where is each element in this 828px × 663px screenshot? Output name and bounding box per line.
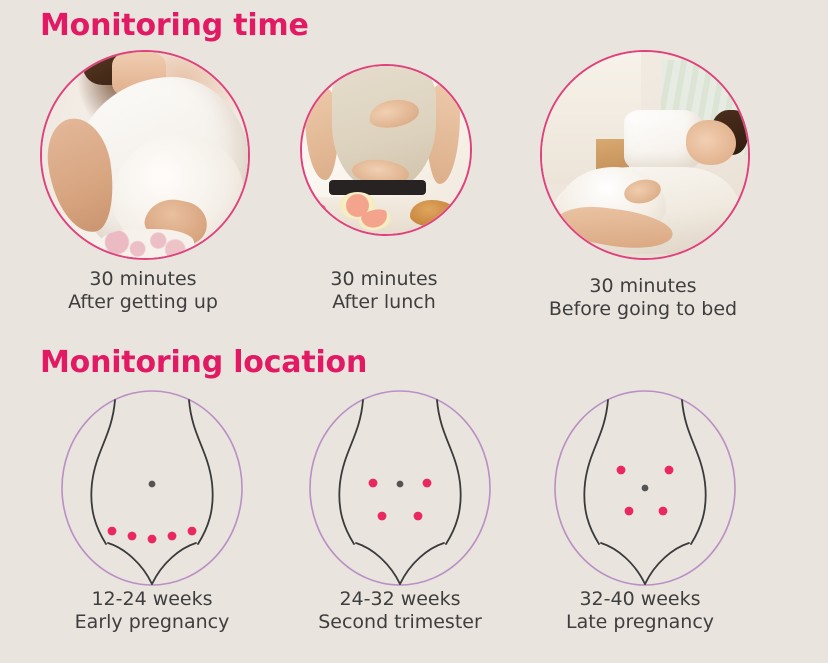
measurement-dot <box>108 527 117 536</box>
caption-line-2: Before going to bed <box>543 298 743 321</box>
monitoring-time-item-before-bed <box>540 50 750 260</box>
section-title-monitoring-location: Monitoring location <box>40 345 367 380</box>
torso-contour-right <box>437 400 461 544</box>
monitoring-time-item-after-lunch <box>300 64 472 236</box>
groin-line-left <box>108 543 152 584</box>
measurement-dot <box>128 532 137 541</box>
measurement-dot <box>188 527 197 536</box>
measurement-dot <box>414 512 423 521</box>
torso-contour-left <box>584 400 608 544</box>
caption-after-lunch: 30 minutes After lunch <box>284 268 484 314</box>
measurement-dot <box>168 532 177 541</box>
photo-after-lunch <box>300 64 472 236</box>
navel-dot <box>642 485 649 492</box>
caption-line-2: Early pregnancy <box>52 611 252 634</box>
torso-contour-left <box>339 400 363 544</box>
measurement-dot <box>148 535 157 544</box>
floral-skirt-shape <box>100 229 195 260</box>
caption-line-1: 32-40 weeks <box>540 588 740 611</box>
monitoring-time-item-after-getting-up <box>40 50 250 260</box>
caption-line-1: 30 minutes <box>284 268 484 291</box>
groin-line-left <box>356 543 400 584</box>
caption-after-getting-up: 30 minutes After getting up <box>43 268 243 314</box>
groin-line-right <box>645 543 689 584</box>
measurement-dot <box>625 507 634 516</box>
monitoring-location-row <box>0 388 828 588</box>
photo-after-getting-up <box>40 50 250 260</box>
pastry-shape <box>410 200 457 227</box>
groin-line-right <box>152 543 196 584</box>
navel-dot <box>149 481 156 488</box>
groin-line-left <box>601 543 645 584</box>
diagram-second-trimester <box>300 388 500 588</box>
measurement-dot <box>378 512 387 521</box>
caption-line-1: 24-32 weeks <box>300 588 500 611</box>
caption-early-pregnancy: 12-24 weeks Early pregnancy <box>52 588 252 634</box>
caption-second-trimester: 24-32 weeks Second trimester <box>300 588 500 634</box>
diagram-late-pregnancy <box>545 388 745 588</box>
torso-contour-right <box>189 400 213 544</box>
berries-shape <box>305 204 329 219</box>
photo-before-going-to-bed <box>540 50 750 260</box>
infographic-page: Monitoring time <box>0 0 828 663</box>
caption-line-1: 30 minutes <box>43 268 243 291</box>
measurement-dot <box>659 507 668 516</box>
caption-late-pregnancy: 32-40 weeks Late pregnancy <box>540 588 740 634</box>
head-shape <box>686 120 735 165</box>
navel-dot <box>397 481 404 488</box>
measurement-dot <box>369 479 378 488</box>
measurement-dot <box>617 466 626 475</box>
caption-line-1: 30 minutes <box>543 275 743 298</box>
caption-line-2: After getting up <box>43 291 243 314</box>
caption-before-going-to-bed: 30 minutes Before going to bed <box>543 275 743 321</box>
caption-line-2: After lunch <box>284 291 484 314</box>
measurement-dot <box>665 466 674 475</box>
diagram-outline-circle <box>62 391 242 585</box>
torso-contour-right <box>682 400 706 544</box>
measurement-dot <box>423 479 432 488</box>
section-title-monitoring-time: Monitoring time <box>40 8 309 43</box>
caption-line-2: Late pregnancy <box>540 611 740 634</box>
caption-line-2: Second trimester <box>300 611 500 634</box>
caption-line-1: 12-24 weeks <box>52 588 252 611</box>
waistband-shape <box>329 180 426 195</box>
groin-line-right <box>400 543 444 584</box>
diagram-outline-circle <box>310 391 490 585</box>
diagram-early-pregnancy <box>52 388 252 588</box>
torso-contour-left <box>91 400 115 544</box>
